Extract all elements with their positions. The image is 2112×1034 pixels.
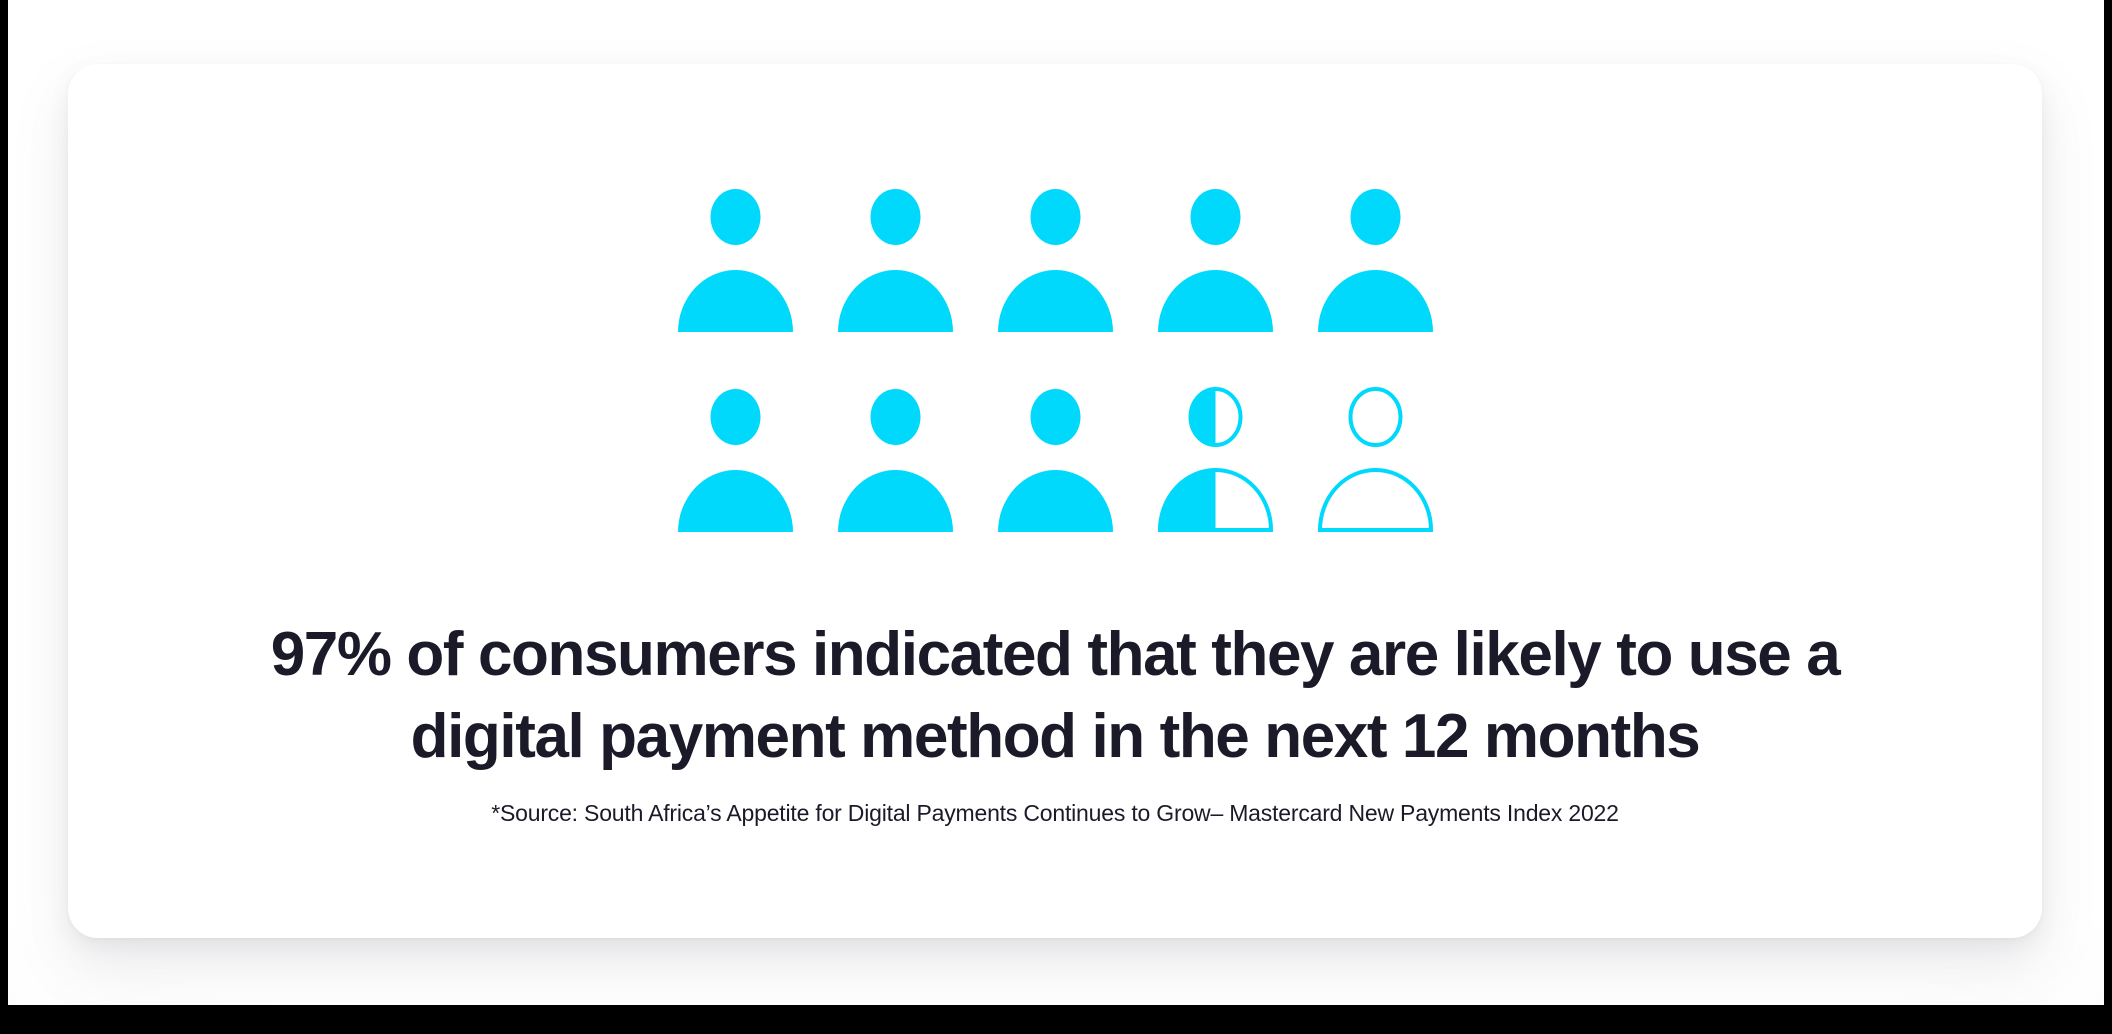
person-icon-5 — [1318, 182, 1433, 332]
headline-statement: 97% of consumers indicated that they are… — [205, 614, 1905, 779]
slide-stage: 97% of consumers indicated that they are… — [8, 0, 2104, 1005]
person-icon-3 — [998, 182, 1113, 332]
person-icon-1 — [678, 182, 793, 332]
pictogram-row-2 — [678, 382, 1433, 532]
person-icon-2 — [838, 182, 953, 332]
person-icon-9 — [1158, 382, 1273, 532]
person-icon-10 — [1318, 382, 1433, 532]
person-icon-4 — [1158, 182, 1273, 332]
slide-frame: 97% of consumers indicated that they are… — [0, 0, 2112, 1034]
person-icon-7 — [838, 382, 953, 532]
content-card: 97% of consumers indicated that they are… — [68, 64, 2042, 938]
person-icon-8 — [998, 382, 1113, 532]
person-icon-6 — [678, 382, 793, 532]
source-citation: *Source: South Africa’s Appetite for Dig… — [155, 800, 1955, 827]
pictogram-row-1 — [678, 182, 1433, 332]
pictogram-chart — [68, 182, 2042, 532]
